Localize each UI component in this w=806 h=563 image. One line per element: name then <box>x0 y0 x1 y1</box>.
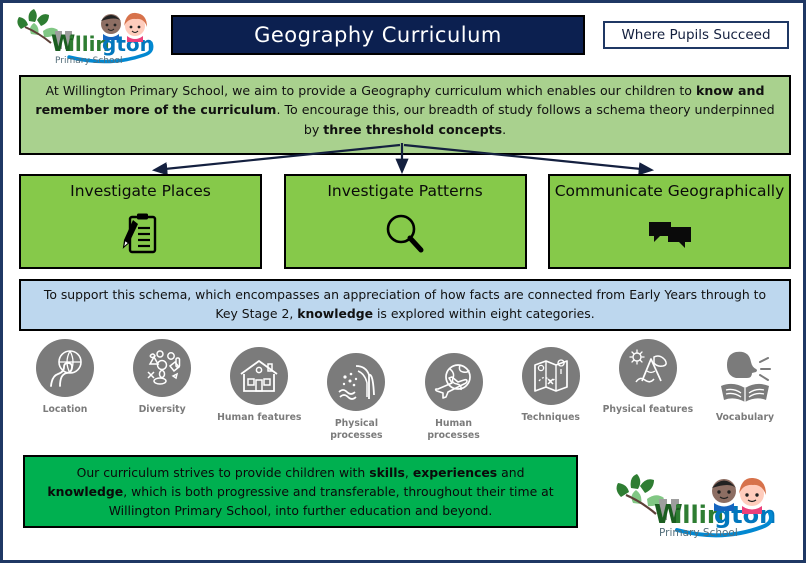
threshold-concepts: Investigate Places Investigate Patterns <box>19 174 791 269</box>
sun-mountain-icon <box>619 339 677 397</box>
intro-statement-text: At Willington Primary School, we aim to … <box>35 81 775 140</box>
category-location[interactable]: Location <box>19 339 111 416</box>
intro-text-3: . <box>502 122 506 137</box>
waterfall-icon <box>327 353 385 411</box>
speaking-head-book-icon <box>716 347 774 405</box>
concept-investigate-places[interactable]: Investigate Places <box>19 174 262 269</box>
person-globe-icon <box>36 339 94 397</box>
map-icon <box>522 347 580 405</box>
page-title-text: Geography Curriculum <box>254 23 502 47</box>
schema-note-text: To support this schema, which encompasse… <box>39 286 771 323</box>
speech-bubbles-icon <box>648 201 692 267</box>
schema-bold-1: knowledge <box>297 306 373 321</box>
concept-investigate-patterns[interactable]: Investigate Patterns <box>284 174 527 269</box>
knowledge-categories: Location <box>19 339 791 447</box>
concept-communicate-geographically[interactable]: Communicate Geographically <box>548 174 791 269</box>
school-logo-bottom: W illin gton Primary School <box>609 471 784 539</box>
category-diversity[interactable]: Diversity <box>116 339 208 416</box>
category-label: Techniques <box>521 412 579 424</box>
header: W illin gton <box>3 3 803 65</box>
category-label: Location <box>43 404 88 416</box>
category-label: Physical processes <box>310 418 402 441</box>
schema-note-box: To support this schema, which encompasse… <box>19 279 791 331</box>
footer-bold-1: skills <box>369 465 405 480</box>
logo-subtitle-bottom: Primary School <box>659 527 738 539</box>
concept-label: Investigate Patterns <box>327 183 482 201</box>
category-physical-processes[interactable]: Physical processes <box>310 353 402 441</box>
category-label: Human features <box>217 412 301 424</box>
footer-bold-2: experiences <box>413 465 497 480</box>
concept-label: Investigate Places <box>70 183 211 201</box>
category-human-processes[interactable]: Human processes <box>408 353 500 441</box>
category-techniques[interactable]: Techniques <box>505 347 597 424</box>
intro-text-1: At Willington Primary School, we aim to … <box>45 83 696 98</box>
category-label: Physical features <box>603 404 694 416</box>
category-human-features[interactable]: Human features <box>213 347 305 424</box>
magnifying-glass-icon <box>384 201 426 267</box>
clipboard-pencil-icon <box>121 201 161 267</box>
globe-airplane-icon <box>425 353 483 411</box>
curriculum-poster: W illin gton <box>0 0 806 563</box>
category-label: Diversity <box>139 404 186 416</box>
logo-subtitle-top: Primary School <box>55 56 123 65</box>
footer-bold-3: knowledge <box>47 484 123 499</box>
school-logo-top: W illin gton <box>11 7 163 65</box>
category-physical-features[interactable]: Physical features <box>602 339 694 416</box>
intro-bold-2: three threshold concepts <box>323 122 502 137</box>
school-motto-text: Where Pupils Succeed <box>621 27 770 43</box>
house-icon <box>230 347 288 405</box>
footer-text-2: , <box>405 465 413 480</box>
school-motto: Where Pupils Succeed <box>603 21 789 49</box>
page-title: Geography Curriculum <box>171 15 585 55</box>
category-label: Vocabulary <box>716 412 774 424</box>
footer-text-4: , which is both progressive and transfer… <box>109 484 554 518</box>
category-vocabulary[interactable]: Vocabulary <box>699 347 791 424</box>
intro-statement-box: At Willington Primary School, we aim to … <box>19 75 791 155</box>
shapes-scatter-icon <box>133 339 191 397</box>
curriculum-aims-text: Our curriculum strives to provide childr… <box>39 463 562 521</box>
footer-text-1: Our curriculum strives to provide childr… <box>77 465 370 480</box>
concept-label: Communicate Geographically <box>555 183 785 201</box>
curriculum-aims-box: Our curriculum strives to provide childr… <box>23 455 578 528</box>
footer-text-3: and <box>497 465 524 480</box>
category-label: Human processes <box>408 418 500 441</box>
schema-text-2: is explored within eight categories. <box>373 306 595 321</box>
